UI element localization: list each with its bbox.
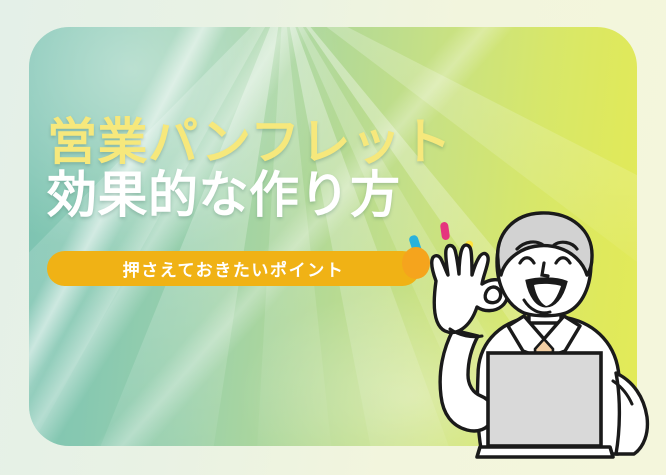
confetti-magenta [440, 222, 450, 241]
confetti-orange [402, 247, 430, 279]
laptop-screen [488, 353, 601, 446]
laptop [477, 353, 613, 457]
resting-arm [616, 373, 647, 454]
banner-canvas: 営業パンフレット 効果的な作り方 押さえておきたいポイント [0, 0, 666, 475]
laptop-base [477, 447, 613, 457]
headline-block: 営業パンフレット 効果的な作り方 [47, 116, 452, 222]
subtitle-pill: 押さえておきたいポイント [47, 251, 420, 286]
businessman-illustration [420, 205, 666, 475]
title-line-primary: 営業パンフレット [47, 116, 452, 169]
subtitle-pill-label: 押さえておきたいポイント [123, 256, 345, 281]
title-line-secondary: 効果的な作り方 [47, 169, 452, 222]
ok-hand-circle [485, 287, 500, 303]
